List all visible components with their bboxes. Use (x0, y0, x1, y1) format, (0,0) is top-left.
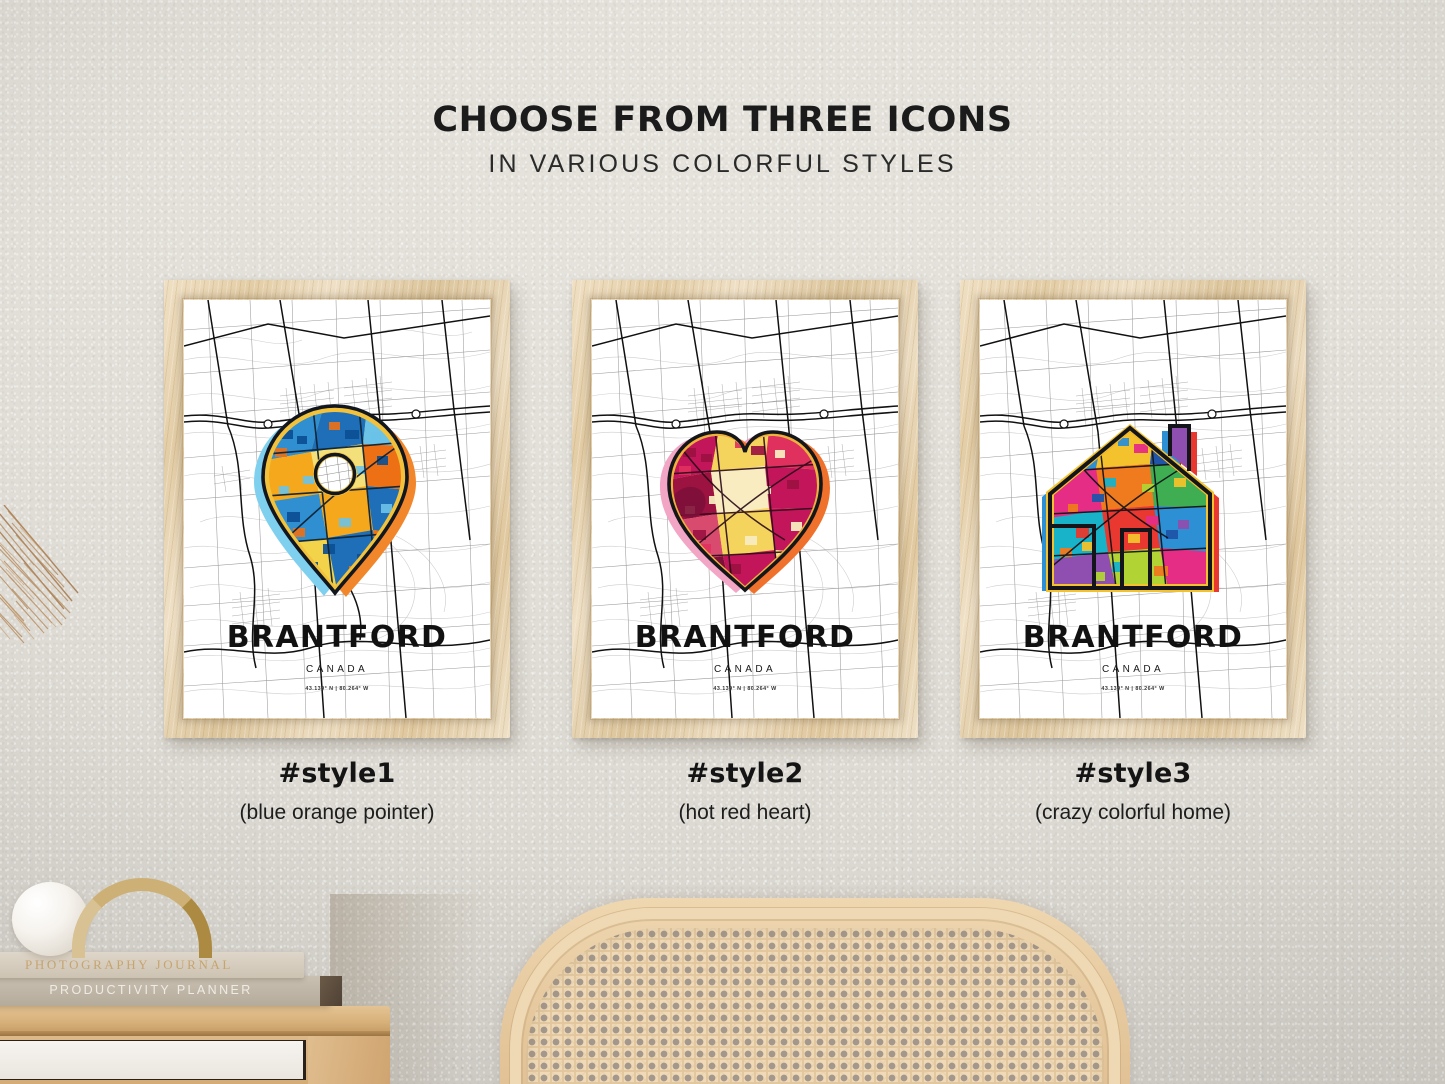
poster-coordinates: 43.139° N | 80.264° W (592, 686, 898, 692)
poster-country-name: CANADA (592, 664, 898, 675)
chair-rim (510, 908, 1120, 1084)
frame-style1[interactable]: BRANTFORD CANADA 43.139° N | 80.264° W (164, 280, 510, 738)
caption-title: #style2 (572, 758, 918, 789)
header: CHOOSE FROM THREE ICONS IN VARIOUS COLOR… (0, 100, 1445, 179)
poster-caption-style3: BRANTFORD CANADA 43.139° N | 80.264° W (980, 623, 1286, 692)
frame-style3[interactable]: BRANTFORD CANADA 43.139° N | 80.264° W (960, 280, 1306, 738)
poster-mat-style2: BRANTFORD CANADA 43.139° N | 80.264° W (592, 300, 898, 718)
caption-title: #style1 (164, 758, 510, 789)
book-title: PHOTOGRAPHY JOURNAL (0, 957, 274, 973)
poster-caption-style2: BRANTFORD CANADA 43.139° N | 80.264° W (592, 623, 898, 692)
caption-subtitle: (crazy colorful home) (960, 801, 1306, 825)
book-spine-end (320, 976, 342, 1006)
caption-subtitle: (hot red heart) (572, 801, 918, 825)
page-title: CHOOSE FROM THREE ICONS (0, 100, 1445, 140)
book-title: PRODUCTIVITY PLANNER (0, 983, 320, 997)
sideboard-side-panel (308, 1036, 390, 1084)
caption-style1: #style1 (blue orange pointer) (164, 758, 510, 825)
pampas-grass-decor (0, 505, 114, 705)
frame-style2[interactable]: BRANTFORD CANADA 43.139° N | 80.264° W (572, 280, 918, 738)
sideboard-drawer[interactable] (0, 1040, 306, 1080)
poster-mat-style1: BRANTFORD CANADA 43.139° N | 80.264° W (184, 300, 490, 718)
poster-style2: BRANTFORD CANADA 43.139° N | 80.264° W (592, 300, 898, 718)
poster-city-name: BRANTFORD (184, 623, 490, 653)
page-subtitle: IN VARIOUS COLORFUL STYLES (0, 150, 1445, 179)
caption-style2: #style2 (hot red heart) (572, 758, 918, 825)
poster-country-name: CANADA (980, 664, 1286, 675)
poster-caption-style1: BRANTFORD CANADA 43.139° N | 80.264° W (184, 623, 490, 692)
book-productivity-planner: PRODUCTIVITY PLANNER (0, 976, 330, 1006)
poster-coordinates: 43.139° N | 80.264° W (184, 686, 490, 692)
poster-city-name: BRANTFORD (980, 623, 1286, 653)
poster-country-name: CANADA (184, 664, 490, 675)
rattan-chair (500, 894, 1130, 1084)
poster-style3: BRANTFORD CANADA 43.139° N | 80.264° W (980, 300, 1286, 718)
caption-title: #style3 (960, 758, 1306, 789)
sideboard: PRODUCTIVITY PLANNER PHOTOGRAPHY JOURNAL (0, 954, 410, 1084)
caption-subtitle: (blue orange pointer) (164, 801, 510, 825)
style-captions: #style1 (blue orange pointer) #style2 (h… (0, 758, 1445, 848)
poster-frames-row: BRANTFORD CANADA 43.139° N | 80.264° W (0, 280, 1445, 740)
poster-coordinates: 43.139° N | 80.264° W (980, 686, 1286, 692)
poster-mat-style3: BRANTFORD CANADA 43.139° N | 80.264° W (980, 300, 1286, 718)
poster-style1: BRANTFORD CANADA 43.139° N | 80.264° W (184, 300, 490, 718)
caption-style3: #style3 (crazy colorful home) (960, 758, 1306, 825)
poster-city-name: BRANTFORD (592, 623, 898, 653)
sideboard-top (0, 1006, 390, 1032)
